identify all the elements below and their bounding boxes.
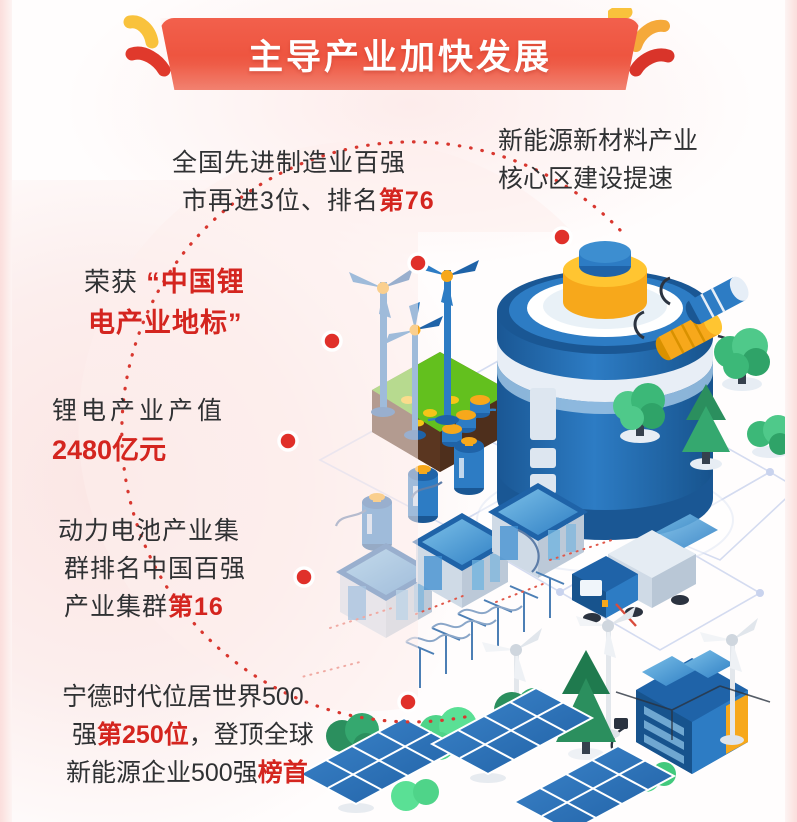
line-text: ，登顶全球	[189, 721, 314, 749]
highlight-award-cont: 电产业地标”	[88, 308, 243, 338]
line-text: 全国先进制造业百强	[172, 149, 406, 177]
line-text: 新能源新材料产业	[498, 127, 698, 155]
highlight-top: 榜首	[258, 759, 308, 787]
text-block-catl-rank: 宁德时代位居世界500 强第250位，登顶全球 新能源企业500强榜首	[62, 678, 314, 792]
line: 电产业地标”	[84, 303, 245, 344]
line-text: 强	[72, 721, 97, 749]
highlight-rank: 第16	[168, 593, 224, 621]
line-text: 动力电池产业集	[58, 517, 240, 545]
line: 市再进3位、排名第76	[172, 182, 435, 220]
line: 核心区建设提速	[498, 160, 698, 198]
text-block-cluster-rank: 动力电池产业集 群排名中国百强 产业集群第16	[58, 512, 246, 626]
text-block-award: 荣获 “中国锂 电产业地标”	[84, 262, 245, 344]
text-block-top-right: 新能源新材料产业 核心区建设提速	[498, 122, 698, 198]
wind-turbine-platform	[349, 258, 512, 472]
line: 新能源新材料产业	[498, 122, 698, 160]
highlight-rank: 第76	[379, 187, 435, 215]
line: 荣获 “中国锂	[84, 262, 245, 303]
line: 2480亿元	[52, 430, 226, 471]
solar-field	[300, 688, 674, 822]
line-text: 新能源企业500强	[66, 759, 258, 787]
line-text: 产业集群	[64, 593, 168, 621]
text-block-output-value: 锂电产业产值 2480亿元	[52, 392, 226, 471]
line: 全国先进制造业百强	[172, 144, 435, 182]
line: 新能源企业500强榜首	[62, 754, 314, 792]
line: 强第250位，登顶全球	[62, 716, 314, 754]
line-text: 荣获	[84, 267, 146, 297]
line: 宁德时代位居世界500	[62, 678, 314, 716]
line-text: 群排名中国百强	[64, 555, 246, 583]
line: 锂电产业产值	[52, 392, 226, 430]
energy-illustration	[300, 210, 797, 822]
output-value: 2480亿元	[52, 435, 166, 465]
line-text: 市再进3位、排名	[182, 187, 379, 215]
line-text: 核心区建设提速	[498, 165, 673, 193]
line: 产业集群第16	[58, 588, 246, 626]
header: 主导产业加快发展	[0, 0, 797, 112]
output-label: 锂电产业产值	[52, 397, 226, 425]
page-title: 主导产业加快发展	[248, 29, 552, 80]
left-edge-border	[0, 0, 12, 822]
infographic-poster: 主导产业加快发展 全国先进制造业百强 市再进3位、排名第76 新能源新材料产业 …	[0, 0, 797, 822]
title-banner: 主导产业加快发展	[160, 18, 640, 90]
line: 动力电池产业集	[58, 512, 246, 550]
line: 群排名中国百强	[58, 550, 246, 588]
line-text: 宁德时代位居世界500	[62, 683, 304, 711]
highlight-rank: 第250位	[97, 721, 189, 749]
highlight-award: “中国锂	[146, 267, 245, 297]
text-block-top-left: 全国先进制造业百强 市再进3位、排名第76	[172, 144, 435, 220]
right-edge-border	[785, 0, 797, 822]
